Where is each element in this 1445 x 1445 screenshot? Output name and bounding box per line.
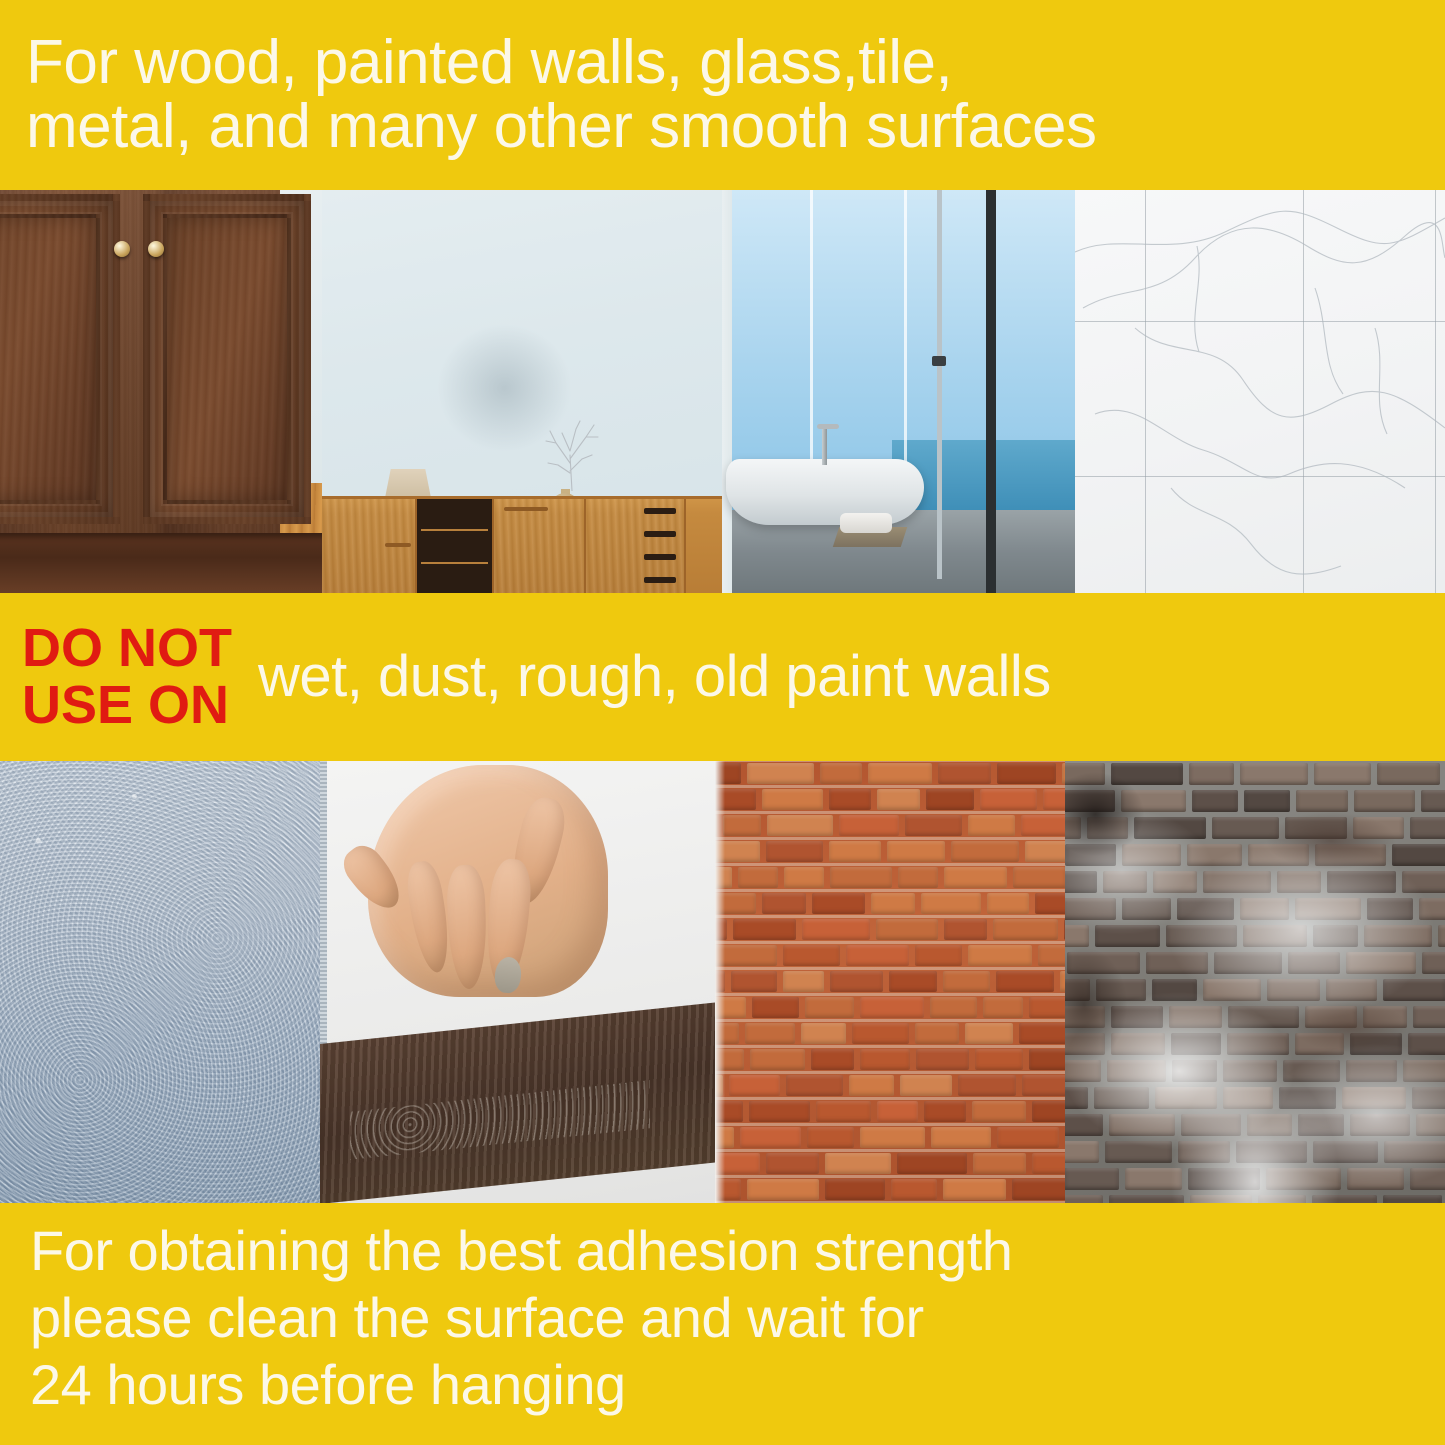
drawer-handle bbox=[504, 507, 548, 511]
do-not-use-banner: DO NOT USE ON wet, dust, rough, old pain… bbox=[0, 593, 1445, 761]
brick bbox=[965, 1023, 1013, 1044]
hand-palm bbox=[368, 765, 608, 997]
left-wall-sliver bbox=[722, 188, 732, 595]
painted-wall-image bbox=[322, 188, 722, 595]
dust-finger-test-image bbox=[320, 761, 715, 1204]
folded-towels bbox=[840, 513, 892, 533]
brick-course bbox=[715, 917, 1065, 943]
sideboard-handle bbox=[385, 543, 411, 547]
brick bbox=[740, 1127, 802, 1148]
brick bbox=[783, 945, 840, 966]
brick-course bbox=[715, 943, 1065, 969]
brick bbox=[846, 945, 908, 966]
brick bbox=[747, 1179, 819, 1200]
brick-course bbox=[715, 787, 1065, 813]
brick bbox=[973, 1153, 1026, 1174]
unsuitable-surfaces-row bbox=[0, 761, 1445, 1204]
shelf-divider bbox=[421, 529, 488, 531]
brick-course bbox=[715, 1125, 1065, 1151]
brick bbox=[889, 971, 937, 992]
wet-condensation-image bbox=[0, 761, 320, 1204]
top-banner-text: For wood, painted walls, glass,tile, met… bbox=[26, 31, 1096, 159]
brick bbox=[1035, 893, 1065, 914]
brick bbox=[905, 815, 962, 836]
brick bbox=[829, 789, 872, 810]
brick bbox=[983, 997, 1023, 1018]
panel-old-paint-wall bbox=[1065, 761, 1445, 1204]
brick bbox=[1029, 997, 1065, 1018]
brick bbox=[868, 763, 932, 784]
sideboard-drawer-stack bbox=[586, 499, 686, 595]
brick bbox=[958, 1075, 1017, 1096]
brick bbox=[860, 997, 924, 1018]
brick bbox=[767, 815, 833, 836]
brick-course bbox=[715, 969, 1065, 995]
brick bbox=[852, 1023, 909, 1044]
brick bbox=[729, 1075, 780, 1096]
drawer-slot bbox=[644, 531, 676, 537]
brick bbox=[1043, 789, 1065, 810]
brick bbox=[887, 841, 945, 862]
brick bbox=[891, 1179, 937, 1200]
brick bbox=[877, 1101, 918, 1122]
old-painted-brick-image bbox=[1065, 761, 1445, 1204]
brick bbox=[783, 971, 824, 992]
glass-door-post bbox=[937, 188, 942, 579]
brick bbox=[762, 893, 806, 914]
brick bbox=[1022, 1075, 1065, 1096]
brick bbox=[924, 1101, 966, 1122]
brick bbox=[1032, 1153, 1065, 1174]
brick bbox=[733, 919, 796, 940]
cabinet-knob-icon bbox=[114, 241, 130, 257]
brick bbox=[860, 1049, 911, 1070]
brick bbox=[1029, 1049, 1065, 1070]
brick bbox=[747, 763, 814, 784]
brick-course bbox=[715, 1099, 1065, 1125]
brick bbox=[766, 841, 822, 862]
sideboard-open-shelves bbox=[417, 499, 494, 595]
brick bbox=[968, 945, 1032, 966]
brick bbox=[921, 893, 982, 914]
black-frame-post bbox=[986, 188, 996, 595]
brick bbox=[749, 1101, 810, 1122]
brick bbox=[900, 1075, 952, 1096]
brick bbox=[825, 1179, 885, 1200]
brick bbox=[975, 1049, 1023, 1070]
brick bbox=[915, 945, 962, 966]
brick bbox=[987, 893, 1029, 914]
brick bbox=[980, 789, 1037, 810]
brick bbox=[830, 971, 883, 992]
brick bbox=[938, 763, 991, 784]
brick bbox=[731, 971, 777, 992]
brick bbox=[943, 971, 990, 992]
panel-marble-tile bbox=[1075, 188, 1445, 595]
drawer-slot bbox=[644, 508, 676, 514]
brick bbox=[752, 997, 800, 1018]
brick-course bbox=[715, 865, 1065, 891]
brick bbox=[786, 1075, 843, 1096]
brick bbox=[968, 815, 1015, 836]
brick bbox=[944, 919, 987, 940]
brick bbox=[943, 1179, 1006, 1200]
brick bbox=[972, 1101, 1026, 1122]
do-not-use-surfaces-text: wet, dust, rough, old paint walls bbox=[258, 647, 1051, 708]
wood-cabinet-image bbox=[0, 188, 322, 595]
brick bbox=[916, 1049, 969, 1070]
brick bbox=[1013, 867, 1065, 888]
top-banner: For wood, painted walls, glass,tile, met… bbox=[0, 0, 1445, 190]
brick bbox=[1038, 945, 1065, 966]
drawer-slot bbox=[644, 577, 676, 583]
brick bbox=[931, 1127, 991, 1148]
brick bbox=[944, 867, 1007, 888]
panel-glass-bathroom bbox=[722, 188, 1075, 595]
wooden-sideboard bbox=[322, 496, 722, 595]
wall-edge-highlight bbox=[715, 761, 725, 1204]
brick-course bbox=[715, 1021, 1065, 1047]
panel-wood-cabinet bbox=[0, 188, 322, 595]
brick-course bbox=[715, 1177, 1065, 1203]
brick bbox=[807, 1127, 854, 1148]
brick bbox=[876, 919, 938, 940]
brick bbox=[750, 1049, 805, 1070]
brick bbox=[839, 815, 899, 836]
brick bbox=[745, 1023, 794, 1044]
brick bbox=[1021, 815, 1065, 836]
brick bbox=[951, 841, 1019, 862]
brick bbox=[762, 789, 822, 810]
drawer-slot bbox=[644, 554, 676, 560]
shelf-divider bbox=[421, 562, 488, 564]
brick bbox=[812, 893, 865, 914]
brick bbox=[738, 867, 778, 888]
marble-veining bbox=[1075, 188, 1445, 595]
brick-course bbox=[715, 1151, 1065, 1177]
brick-course bbox=[715, 1047, 1065, 1073]
tub-faucet bbox=[822, 425, 827, 465]
marble-tile-image bbox=[1075, 188, 1445, 595]
panel-painted-wall bbox=[322, 188, 722, 595]
brick-course bbox=[715, 813, 1065, 839]
exposed-brick-grime bbox=[1065, 761, 1445, 1204]
brick bbox=[1019, 1023, 1065, 1044]
suitable-surfaces-row bbox=[0, 188, 1445, 595]
brick bbox=[801, 1023, 846, 1044]
panel-wet-surface bbox=[0, 761, 320, 1204]
brick bbox=[825, 1153, 892, 1174]
brick bbox=[830, 867, 892, 888]
red-brick-wall-image bbox=[715, 761, 1065, 1204]
brick bbox=[805, 997, 854, 1018]
brick bbox=[871, 893, 915, 914]
brick bbox=[930, 997, 978, 1018]
brick bbox=[766, 1153, 819, 1174]
brick bbox=[860, 1127, 925, 1148]
brick bbox=[877, 789, 920, 810]
bottom-banner: For obtaining the best adhesion strength… bbox=[0, 1203, 1445, 1445]
brick bbox=[802, 919, 870, 940]
brick-course bbox=[715, 891, 1065, 917]
cabinet-door-right bbox=[143, 194, 311, 524]
glass-bathroom-image bbox=[722, 188, 1075, 595]
brick bbox=[816, 1101, 870, 1122]
brick-course bbox=[715, 839, 1065, 865]
brick bbox=[997, 763, 1056, 784]
brick bbox=[829, 841, 881, 862]
panel-rough-brick bbox=[715, 761, 1065, 1204]
brick-course bbox=[715, 1073, 1065, 1099]
cabinet-door-left bbox=[0, 194, 120, 524]
freestanding-bathtub bbox=[726, 459, 924, 525]
sideboard-drawer-large bbox=[494, 499, 586, 595]
brick bbox=[1032, 1101, 1065, 1122]
brick bbox=[997, 1127, 1059, 1148]
cabinet-knob-icon bbox=[148, 241, 164, 257]
sideboard-cabinet-door bbox=[322, 499, 417, 595]
panel-dusty-surface bbox=[320, 761, 715, 1204]
brick bbox=[849, 1075, 894, 1096]
bottom-banner-text: For obtaining the best adhesion strength… bbox=[30, 1217, 1012, 1419]
do-not-use-label: DO NOT USE ON bbox=[22, 620, 232, 734]
tub-faucet-spout bbox=[817, 424, 839, 429]
brick bbox=[898, 867, 937, 888]
door-handle-icon bbox=[932, 356, 946, 366]
infographic-page: For wood, painted walls, glass,tile, met… bbox=[0, 0, 1445, 1445]
brick bbox=[784, 867, 824, 888]
brick bbox=[811, 1049, 853, 1070]
brick bbox=[1025, 841, 1065, 862]
brick bbox=[1012, 1179, 1065, 1200]
dried-branches bbox=[536, 415, 606, 491]
cabinet-base-trim bbox=[0, 533, 322, 595]
brick bbox=[915, 1023, 959, 1044]
brick bbox=[926, 789, 974, 810]
brick-course bbox=[715, 995, 1065, 1021]
brick-course bbox=[715, 761, 1065, 787]
brick bbox=[993, 919, 1058, 940]
brick bbox=[723, 815, 761, 836]
brick bbox=[820, 763, 862, 784]
brick bbox=[897, 1153, 966, 1174]
brick bbox=[996, 971, 1054, 992]
